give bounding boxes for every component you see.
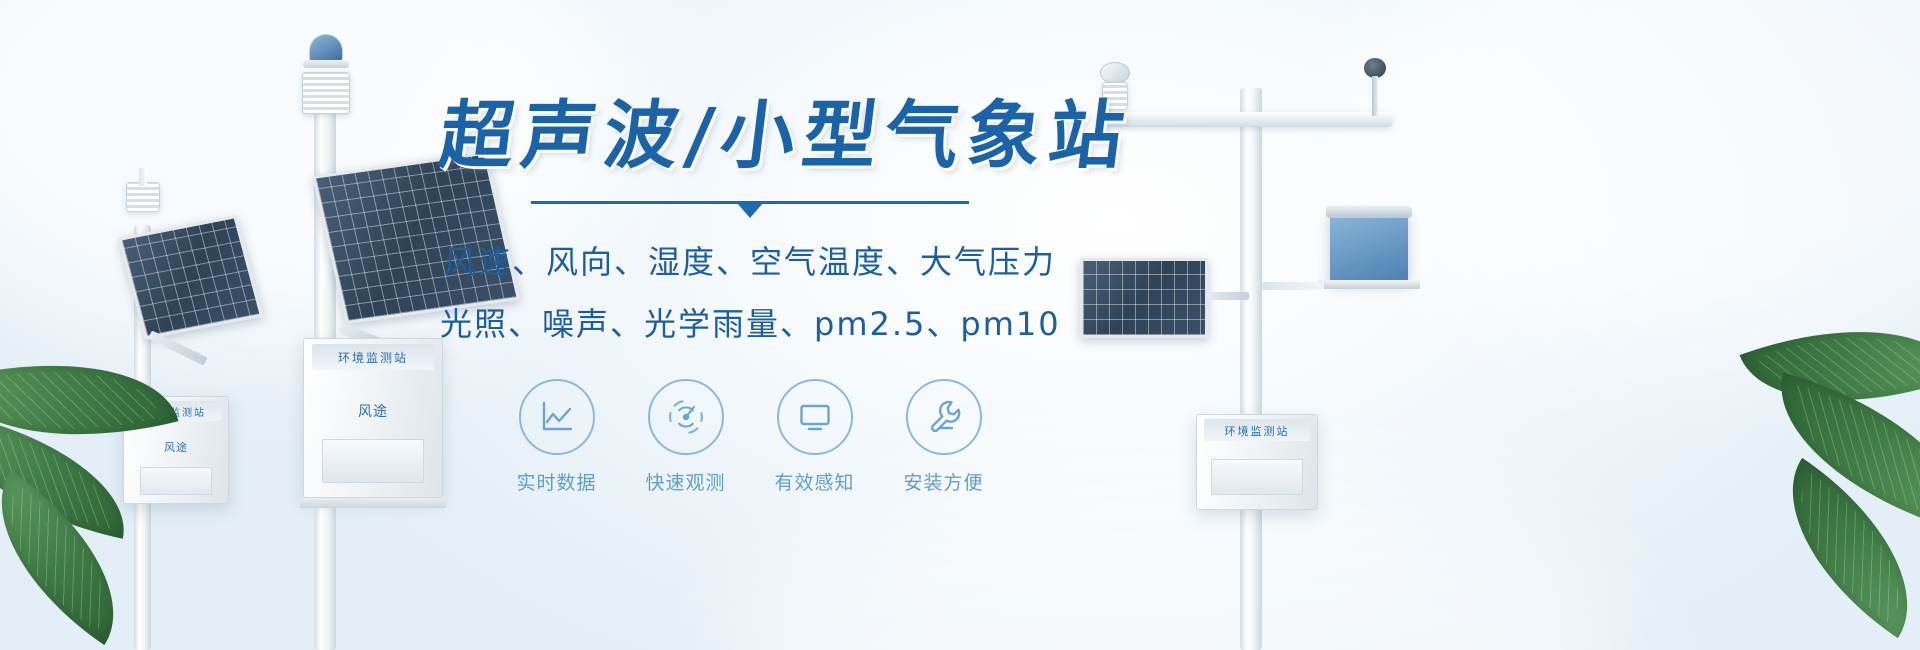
feature-item-easy-install[interactable]: 安装方便 — [903, 379, 985, 495]
left-cabinet-brand: 风途 — [124, 439, 228, 455]
divider-triangle-icon — [737, 203, 763, 218]
left-radiation-shield-icon — [126, 182, 160, 212]
line-chart-icon — [519, 379, 595, 455]
banner-text-block: 超声波/小型气象站 风速、风向、湿度、空气温度、大气压力 光照、噪声、光学雨量、… — [440, 96, 1060, 495]
left-cabinet-door — [140, 467, 212, 495]
right-station-pole — [1240, 88, 1262, 650]
product-banner: 环境监测站 风途 环境监测站 风途 — [0, 0, 1920, 650]
right-rain-gauge-icon — [1330, 210, 1408, 282]
subtitle-line-1: 风速、风向、湿度、空气温度、大气压力 — [440, 237, 1060, 283]
right-anemometer-stem — [1372, 76, 1378, 116]
subtitle-line-2: 光照、噪声、光学雨量、pm2.5、pm10 — [440, 299, 1060, 345]
left-panel-bracket — [148, 330, 208, 365]
center-radiation-shield-icon — [302, 72, 350, 114]
right-shelf-arm — [1262, 282, 1324, 290]
center-equipment-cabinet: 环境监测站 风途 — [303, 338, 443, 498]
center-cabinet-base — [300, 498, 446, 508]
left-solar-panel — [118, 215, 263, 339]
left-sensor-mast — [139, 168, 147, 186]
center-dome-sensor-icon — [309, 34, 343, 62]
background-glow-right — [1360, 0, 1920, 360]
center-cabinet-brand: 风途 — [304, 401, 442, 421]
right-rain-gauge-rim — [1326, 206, 1412, 218]
feature-item-realtime-data[interactable]: 实时数据 — [516, 379, 598, 495]
right-panel-bracket — [1205, 292, 1249, 300]
right-equipment-cabinet: 环境监测站 — [1196, 414, 1318, 510]
page-title: 超声波/小型气象站 — [435, 96, 1065, 177]
feature-list: 实时数据 快速观测 — [440, 379, 1060, 495]
center-cabinet-door — [322, 439, 424, 483]
feature-label: 实时数据 — [516, 468, 598, 495]
right-rain-gauge-shelf — [1318, 280, 1420, 289]
center-dome-collar — [303, 60, 349, 68]
monitor-icon — [777, 379, 853, 455]
wrench-icon — [906, 379, 982, 455]
radar-signal-icon — [648, 379, 724, 455]
feature-item-fast-observation[interactable]: 快速观测 — [645, 379, 727, 495]
right-cross-arm — [1098, 112, 1392, 127]
feature-label: 安装方便 — [903, 468, 985, 495]
right-ultrasonic-sensor-icon — [1100, 62, 1130, 84]
feature-label: 快速观测 — [645, 468, 727, 495]
right-anemometer-head-icon — [1364, 58, 1386, 78]
right-solar-panel — [1080, 258, 1208, 338]
right-cabinet-door — [1211, 459, 1303, 495]
right-cabinet-label: 环境监测站 — [1197, 423, 1317, 439]
center-cabinet-label: 环境监测站 — [304, 349, 442, 366]
feature-item-effective-sensing[interactable]: 有效感知 — [774, 379, 856, 495]
title-divider — [531, 199, 969, 213]
feature-label: 有效感知 — [774, 468, 856, 495]
